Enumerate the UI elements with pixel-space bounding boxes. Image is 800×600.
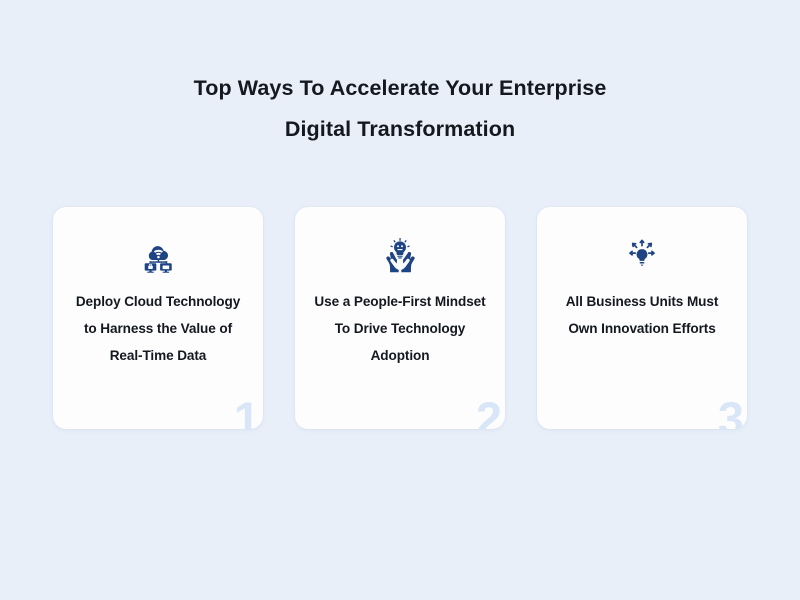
card-row: Deploy Cloud Technology to Harness the V… — [53, 207, 747, 429]
page-title-line-1: Top Ways To Accelerate Your Enterprise — [0, 68, 800, 109]
hands-holding-idea-icon — [382, 237, 418, 273]
card-2-text: Use a People-First Mindset To Drive Tech… — [314, 288, 486, 369]
card-1-number: 1 — [234, 395, 259, 429]
card-1[interactable]: Deploy Cloud Technology to Harness the V… — [53, 207, 263, 429]
page-title-line-2: Digital Transformation — [0, 109, 800, 150]
card-2-number: 2 — [476, 395, 501, 429]
infographic-page: Top Ways To Accelerate Your Enterprise D… — [0, 0, 800, 600]
card-1-text: Deploy Cloud Technology to Harness the V… — [72, 288, 244, 369]
card-2[interactable]: Use a People-First Mindset To Drive Tech… — [295, 207, 505, 429]
lightbulb-innovation-icon — [624, 237, 660, 273]
card-3[interactable]: All Business Units Must Own Innovation E… — [537, 207, 747, 429]
cloud-network-icon — [140, 237, 176, 273]
card-3-number: 3 — [718, 395, 743, 429]
page-title: Top Ways To Accelerate Your Enterprise D… — [0, 68, 800, 150]
card-3-text: All Business Units Must Own Innovation E… — [556, 288, 728, 342]
